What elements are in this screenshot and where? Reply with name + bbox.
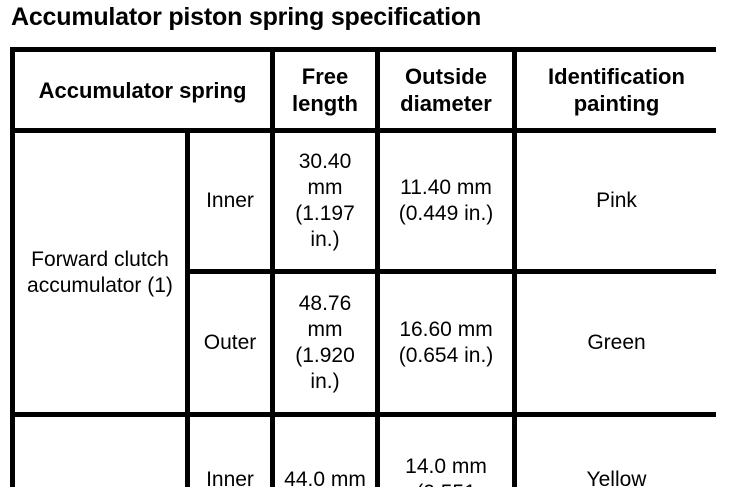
accumulator-spring-spec-table: Accumulator spring Free length Outside d… [10, 47, 716, 487]
cell-outside-diameter: 14.0 mm (0.551 [378, 415, 515, 488]
cell-outside-diameter: 11.40 mm (0.449 in.) [378, 131, 515, 272]
cell-spring-position: Inner [188, 415, 273, 488]
column-header-free-length: Free length [273, 50, 378, 131]
spec-table-container: Accumulator spring Free length Outside d… [10, 47, 716, 487]
table-header-row: Accumulator spring Free length Outside d… [13, 50, 717, 131]
column-header-accumulator-spring: Accumulator spring [13, 50, 273, 131]
cell-free-length: 30.40 mm (1.197 in.) [273, 131, 378, 272]
cell-outside-diameter: 16.60 mm (0.654 in.) [378, 272, 515, 415]
cell-identification-painting: Green [515, 272, 717, 415]
cell-free-length: 48.76 mm (1.920 in.) [273, 272, 378, 415]
cell-free-length: 44.0 mm [273, 415, 378, 488]
table-body: Forward clutch accumulator (1) Inner 30.… [13, 131, 717, 488]
table-row: Forward clutch accumulator (1) Inner 30.… [13, 131, 717, 272]
cell-identification-painting: Pink [515, 131, 717, 272]
document-page: Accumulator piston spring specification … [0, 0, 752, 498]
table-row: Inner 44.0 mm 14.0 mm (0.551 Yellow [13, 415, 717, 488]
cell-spring-name: Forward clutch accumulator (1) [13, 131, 188, 415]
table-header: Accumulator spring Free length Outside d… [13, 50, 717, 131]
cell-spring-position: Outer [188, 272, 273, 415]
cell-spring-position: Inner [188, 131, 273, 272]
cell-identification-painting: Yellow [515, 415, 717, 488]
column-header-outside-diameter: Outside diameter [378, 50, 515, 131]
column-header-identification-painting: Identification painting [515, 50, 717, 131]
page-title: Accumulator piston spring specification [11, 1, 481, 33]
cell-spring-name [13, 415, 188, 488]
